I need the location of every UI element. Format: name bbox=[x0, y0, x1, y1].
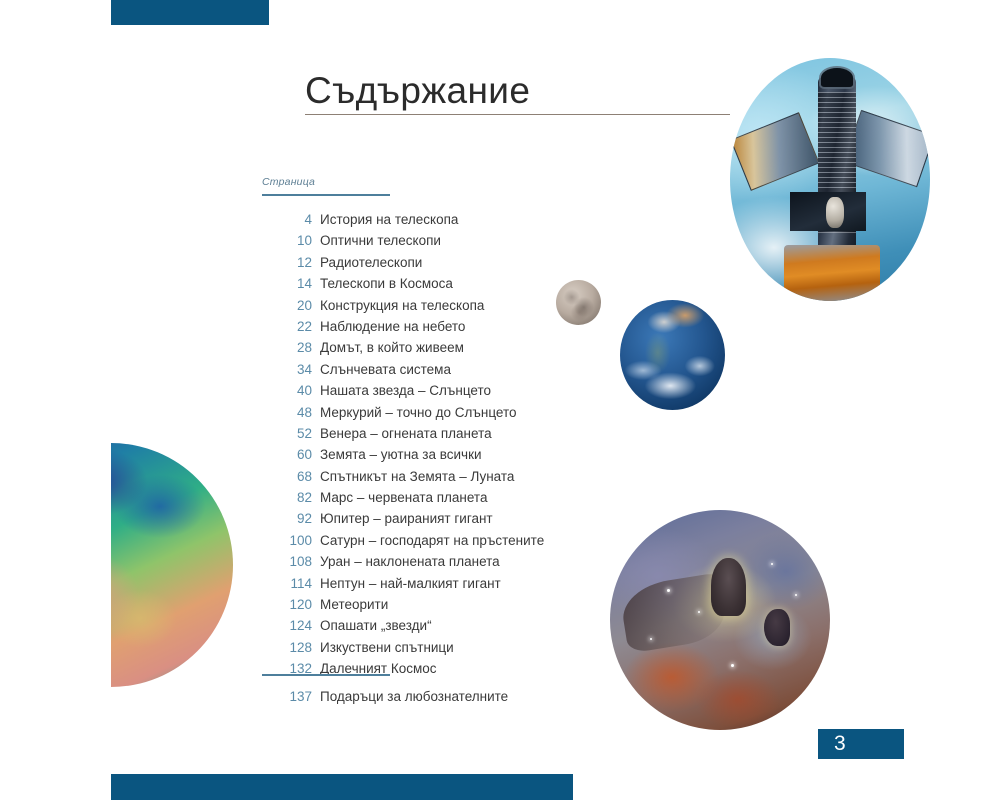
toc-row[interactable]: 20Конструкция на телескопа bbox=[262, 298, 592, 319]
toc-page-number: 137 bbox=[262, 689, 312, 704]
toc-footer-rule bbox=[262, 674, 390, 676]
page-number-badge: 3 bbox=[818, 729, 904, 759]
toc-entry-title: История на телескопа bbox=[312, 212, 458, 227]
earth-photo bbox=[620, 300, 725, 410]
toc-page-number: 114 bbox=[262, 576, 312, 591]
table-of-contents: 4История на телескопа10Оптични телескопи… bbox=[262, 212, 592, 683]
toc-page-number: 34 bbox=[262, 362, 312, 377]
toc-page-number: 68 bbox=[262, 469, 312, 484]
toc-entry-title: Венера – огнената планета bbox=[312, 426, 492, 441]
bottom-accent-bar bbox=[111, 774, 573, 800]
toc-entry-title: Телескопи в Космоса bbox=[312, 276, 453, 291]
toc-row[interactable]: 52Венера – огнената планета bbox=[262, 426, 592, 447]
toc-page-number: 92 bbox=[262, 511, 312, 526]
toc-row[interactable]: 40Нашата звезда – Слънцето bbox=[262, 383, 592, 404]
toc-entry-title: Земята – уютна за всички bbox=[312, 447, 482, 462]
toc-row[interactable]: 100Сатурн – господарят на пръстените bbox=[262, 533, 592, 554]
toc-row[interactable]: 114Нептун – най-малкият гигант bbox=[262, 576, 592, 597]
page-title: Съдържание bbox=[305, 70, 530, 112]
page-column-label: Страница bbox=[262, 176, 315, 188]
toc-row[interactable]: 68Спътникът на Земята – Луната bbox=[262, 469, 592, 490]
toc-page-number: 82 bbox=[262, 490, 312, 505]
title-underline bbox=[305, 114, 730, 115]
astronaut bbox=[826, 197, 844, 229]
toc-row[interactable]: 60Земята – уютна за всички bbox=[262, 447, 592, 468]
toc-row[interactable]: 10Оптични телескопи bbox=[262, 233, 592, 254]
toc-entry-title: Нептун – най-малкият гигант bbox=[312, 576, 501, 591]
toc-row[interactable]: 48Меркурий – точно до Слънцето bbox=[262, 405, 592, 426]
toc-entry-title: Юпитер – раираният гигант bbox=[312, 511, 493, 526]
star bbox=[650, 638, 652, 640]
toc-page-number: 12 bbox=[262, 255, 312, 270]
toc-row[interactable]: 120Метеорити bbox=[262, 597, 592, 618]
solar-panel-right bbox=[843, 110, 930, 188]
toc-page-number: 100 bbox=[262, 533, 312, 548]
toc-page-number: 40 bbox=[262, 383, 312, 398]
toc-page-number: 4 bbox=[262, 212, 312, 227]
toc-entry-title: Спътникът на Земята – Луната bbox=[312, 469, 514, 484]
nebula-photo bbox=[610, 510, 830, 730]
toc-page-number: 28 bbox=[262, 340, 312, 355]
toc-page-number: 20 bbox=[262, 298, 312, 313]
toc-page-number: 48 bbox=[262, 405, 312, 420]
toc-row[interactable]: 12Радиотелескопи bbox=[262, 255, 592, 276]
star bbox=[731, 664, 734, 667]
hubble-space-telescope-photo bbox=[730, 58, 930, 301]
telescope-aperture bbox=[821, 68, 853, 87]
toc-row[interactable]: 14Телескопи в Космоса bbox=[262, 276, 592, 297]
toc-row[interactable]: 128Изкуствени спътници bbox=[262, 640, 592, 661]
telescope-base bbox=[784, 245, 880, 301]
toc-page-number: 120 bbox=[262, 597, 312, 612]
toc-entry-title: Оптични телескопи bbox=[312, 233, 441, 248]
toc-entry-title: Сатурн – господарят на пръстените bbox=[312, 533, 544, 548]
toc-entry-title: Меркурий – точно до Слънцето bbox=[312, 405, 517, 420]
page-column-rule bbox=[262, 194, 390, 196]
toc-entry-title: Нашата звезда – Слънцето bbox=[312, 383, 491, 398]
toc-row[interactable]: 132Далечният Космос bbox=[262, 661, 592, 682]
toc-page-number: 124 bbox=[262, 618, 312, 633]
toc-entry-title: Слънчевата система bbox=[312, 362, 451, 377]
table-of-contents-footer: 137Подаръци за любознателните bbox=[262, 689, 592, 710]
left-margin-mask bbox=[0, 0, 111, 800]
toc-entry-title: Радиотелескопи bbox=[312, 255, 422, 270]
toc-page-number: 128 bbox=[262, 640, 312, 655]
toc-row[interactable]: 108Уран – наклонената планета bbox=[262, 554, 592, 575]
toc-entry-title: Изкуствени спътници bbox=[312, 640, 454, 655]
nebula-pillar-secondary bbox=[764, 609, 790, 646]
toc-row[interactable]: 34Слънчевата система bbox=[262, 362, 592, 383]
toc-entry-title: Наблюдение на небето bbox=[312, 319, 465, 334]
toc-page-number: 60 bbox=[262, 447, 312, 462]
toc-entry-title: Конструкция на телескопа bbox=[312, 298, 484, 313]
solar-panel-left bbox=[730, 112, 819, 191]
toc-row[interactable]: 28Домът, в който живеем bbox=[262, 340, 592, 361]
toc-entry-title: Марс – червената планета bbox=[312, 490, 487, 505]
toc-page-number: 22 bbox=[262, 319, 312, 334]
toc-entry-title: Метеорити bbox=[312, 597, 388, 612]
nebula-pillar-primary bbox=[711, 558, 746, 615]
toc-page-number: 10 bbox=[262, 233, 312, 248]
toc-entry-title: Опашати „звезди“ bbox=[312, 618, 432, 633]
toc-row[interactable]: 92Юпитер – раираният гигант bbox=[262, 511, 592, 532]
toc-entry-title: Уран – наклонената планета bbox=[312, 554, 500, 569]
toc-row[interactable]: 4История на телескопа bbox=[262, 212, 592, 233]
document-page: Съдържание Страница 4История на телескоп… bbox=[0, 0, 1000, 800]
star bbox=[795, 594, 797, 596]
toc-page-number: 52 bbox=[262, 426, 312, 441]
toc-page-number: 108 bbox=[262, 554, 312, 569]
top-accent-bar bbox=[111, 0, 269, 25]
toc-row[interactable]: 137Подаръци за любознателните bbox=[262, 689, 592, 710]
star bbox=[771, 563, 773, 565]
toc-row[interactable]: 22Наблюдение на небето bbox=[262, 319, 592, 340]
toc-row[interactable]: 124Опашати „звезди“ bbox=[262, 618, 592, 639]
toc-entry-title: Подаръци за любознателните bbox=[312, 689, 508, 704]
toc-row[interactable]: 82Марс – червената планета bbox=[262, 490, 592, 511]
toc-page-number: 14 bbox=[262, 276, 312, 291]
toc-entry-title: Домът, в който живеем bbox=[312, 340, 464, 355]
